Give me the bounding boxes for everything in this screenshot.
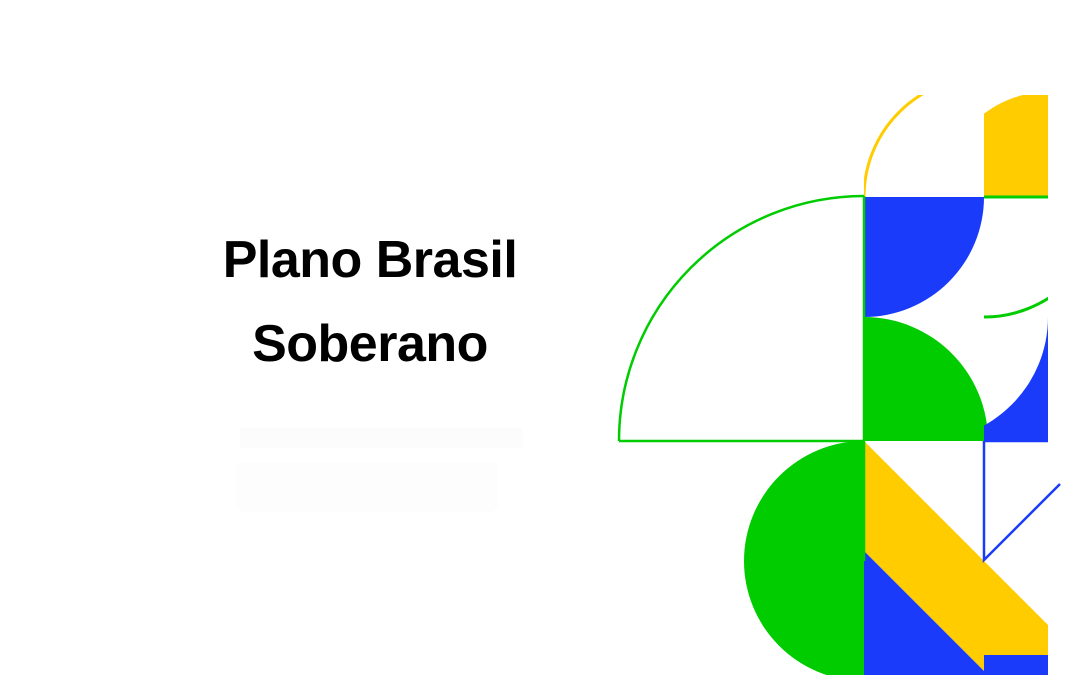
green-quarter-mid-left [864,317,988,441]
green-arc-outline-large [619,196,864,441]
yellow-quarter-top-right [943,92,1048,197]
subtitle-placeholder [240,428,522,448]
cta-placeholder[interactable] [236,462,498,512]
slide-canvas: Plano Brasil Soberano [0,0,1080,675]
blue-strip-bottom-right [984,655,1048,675]
green-arc-outline-upper-right [984,197,1080,317]
blue-triangle-outline [984,441,1060,560]
blue-quarter-upper-left [864,197,984,317]
yellow-arc-outline-top-left [864,77,984,197]
title-line-1: Plano Brasil [120,218,620,302]
green-quarter-bottom-left [744,441,864,675]
page-title: Plano Brasil Soberano [120,218,620,386]
title-line-2: Soberano [120,302,620,386]
